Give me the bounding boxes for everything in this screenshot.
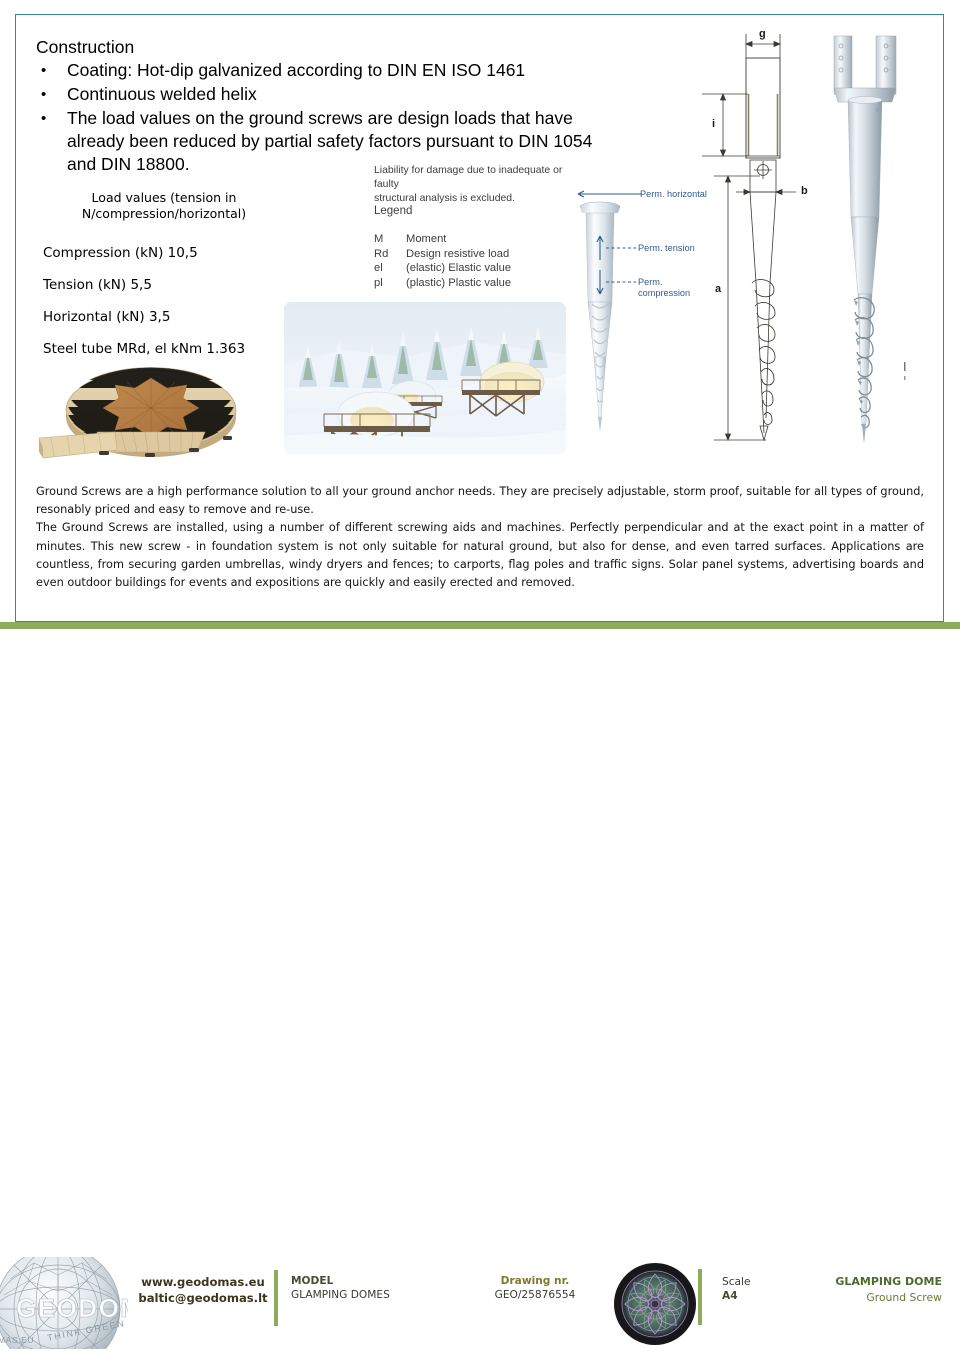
annotation-perm-compression-line1: Perm. [638,277,663,288]
dimension-label-a: a [715,283,721,295]
legend-key: el [374,261,406,276]
annotated-screw-diagram: Perm. horizontal Perm. tension Perm. com… [570,182,710,432]
construction-section: Construction • Coating: Hot-dip galvaniz… [36,36,596,176]
construction-bullet-2: • Continuous welded helix [36,83,596,106]
legend-key: Rd [374,247,406,262]
legend-value: Design resistive load [406,247,574,262]
website-link[interactable]: www.geodomas.eu [133,1274,273,1290]
legend-value: Moment [406,232,574,247]
legend-row: M Moment [374,232,574,247]
winter-glamping-photo [284,302,566,454]
legend-row: Rd Design resistive load [374,247,574,262]
mandala-medallion-logo [613,1262,697,1346]
drawing-title-line2: Ground Screw [790,1290,942,1306]
drawing-tick-mark [903,362,905,382]
construction-bullet-2-text: Continuous welded helix [67,83,596,106]
annotation-perm-tension: Perm. tension [638,243,695,254]
description-paragraph-2: The Ground Screws are installed, using a… [36,519,924,592]
liability-note: Liability for damage due to inadequate o… [374,164,564,206]
load-values-title-line2: N/compression/horizontal) [64,206,264,222]
ground-screw-render [822,32,932,450]
document-page: Construction • Coating: Hot-dip galvaniz… [0,0,960,720]
legend-value: (elastic) Elastic value [406,261,574,276]
construction-heading: Construction [36,36,596,58]
bullet-marker-icon: • [36,107,67,176]
geodomas-logo: GEODOM THINK GREEN MAS.EU [0,1257,128,1349]
load-value-tension: Tension (kN) 5,5 [38,276,288,294]
model-value: GLAMPING DOMES [291,1288,441,1302]
cad-technical-drawing: g i b a [700,28,830,453]
construction-bullet-1-text: Coating: Hot-dip galvanized according to… [67,59,596,82]
dimension-label-b: b [801,185,808,197]
load-values-title-line1: Load values (tension in [64,190,264,206]
load-values-title: Load values (tension in N/compression/ho… [64,190,264,222]
dimension-label-g: g [759,28,766,40]
drawing-number-label: Drawing nr. [470,1274,600,1288]
svg-text:GEODOM: GEODOM [16,1293,128,1323]
legend-row: pl (plastic) Plastic value [374,276,574,291]
annotation-perm-horizontal: Perm. horizontal [640,189,707,200]
drawing-number-value: GEO/25876554 [470,1288,600,1302]
drawing-title-line1: GLAMPING DOME [790,1274,942,1290]
construction-bullet-1: • Coating: Hot-dip galvanized according … [36,59,596,82]
legend-key: pl [374,276,406,291]
bullet-marker-icon: • [36,83,67,106]
legend-table: M Moment Rd Design resistive load el (el… [374,232,574,290]
drawing-title-block: GLAMPING DOME Ground Screw [790,1274,942,1306]
liability-line-1: Liability for damage due to inadequate o… [374,164,564,192]
load-values-section: Load values (tension in N/compression/ho… [38,190,288,358]
dimension-label-i: i [712,118,715,130]
bullet-marker-icon: • [36,59,67,82]
annotation-perm-compression-line2: compression [638,288,690,299]
footer-green-band [0,622,960,629]
footer-divider-2 [698,1269,702,1325]
model-label: MODEL [291,1274,441,1288]
load-value-horizontal: Horizontal (kN) 3,5 [38,308,288,326]
contact-block: www.geodomas.eu baltic@geodomas.lt [133,1274,273,1306]
drawing-number-block: Drawing nr. GEO/25876554 [470,1274,600,1302]
load-value-compression: Compression (kN) 10,5 [38,244,288,262]
legend-heading: Legend [374,205,412,217]
description-paragraph-1: Ground Screws are a high performance sol… [36,483,924,519]
footer-divider-1 [274,1270,278,1326]
load-value-steel-tube: Steel tube MRd, el kNm 1.363 [38,340,288,358]
description-section: Ground Screws are a high performance sol… [36,483,924,592]
legend-row: el (elastic) Elastic value [374,261,574,276]
model-block: MODEL GLAMPING DOMES [291,1274,441,1302]
liability-line-2: structural analysis is excluded. [374,192,564,206]
svg-text:MAS.EU: MAS.EU [0,1335,34,1345]
email-link[interactable]: baltic@geodomas.lt [133,1290,273,1306]
legend-key: M [374,232,406,247]
wooden-deck-photo [27,360,255,463]
footer: GEODOM THINK GREEN MAS.EU www.geodomas.e… [0,629,960,720]
legend-value: (plastic) Plastic value [406,276,574,291]
